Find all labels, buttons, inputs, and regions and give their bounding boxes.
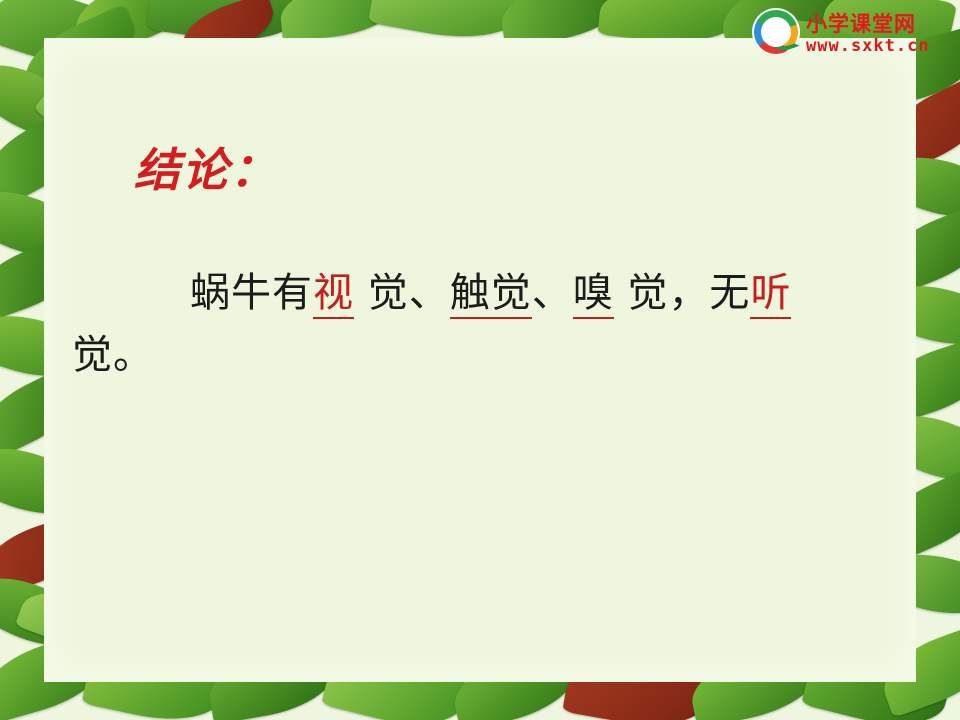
- text-after-touch: 、: [532, 270, 573, 316]
- watermark-site-url: www.sxkt.cn: [806, 36, 930, 56]
- text-after-hearing: 觉。: [72, 332, 154, 378]
- swoosh-icon: [760, 16, 799, 56]
- leaf-shape: [278, 0, 403, 42]
- slide-canvas: 结论： 蜗牛有视 觉、触觉、嗅 觉，无听 觉。 小学课堂网 www.sxkt.c…: [0, 0, 960, 720]
- text-after-vision: 觉、: [354, 270, 450, 316]
- text-prefix: 蜗牛有: [190, 270, 313, 316]
- watermark-logo: 小学课堂网 www.sxkt.cn: [752, 6, 948, 62]
- page-title: 结论：: [134, 134, 278, 200]
- body-paragraph: 蜗牛有视 觉、触觉、嗅 觉，无听 觉。: [72, 262, 882, 386]
- underlined-term-vision: 视: [313, 270, 354, 319]
- colored-circle-logo-icon: [752, 8, 800, 56]
- underlined-term-smell: 嗅: [573, 270, 614, 319]
- watermark-site-name: 小学课堂网: [806, 8, 916, 38]
- underlined-term-touch: 触觉: [450, 270, 532, 319]
- text-after-smell: 觉，无: [614, 270, 751, 316]
- underlined-term-hearing: 听: [750, 270, 791, 319]
